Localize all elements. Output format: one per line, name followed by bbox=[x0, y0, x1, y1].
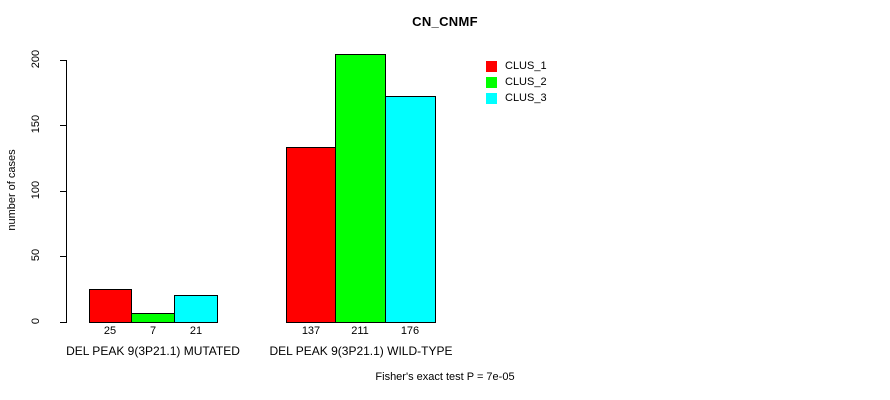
legend-swatch-clus-2 bbox=[486, 77, 497, 88]
bar-group-1-clus-3[interactable] bbox=[174, 295, 218, 323]
legend-swatch-clus-3 bbox=[486, 93, 497, 104]
legend-label-clus-1: CLUS_1 bbox=[505, 61, 547, 72]
x-axis-group-label-wild-type: DEL PEAK 9(3P21.1) WILD-TYPE bbox=[251, 344, 471, 358]
bar-group-2-clus-1[interactable] bbox=[286, 147, 336, 323]
bar-group-1-clus-2[interactable] bbox=[131, 313, 175, 323]
bar-group-1-clus-1[interactable] bbox=[89, 289, 132, 323]
legend-item-clus-3[interactable]: CLUS_3 bbox=[486, 90, 547, 106]
legend-label-clus-3: CLUS_3 bbox=[505, 93, 547, 104]
bar-value-group-1-clus-3: 21 bbox=[166, 325, 226, 337]
bar-group-2-clus-3[interactable] bbox=[385, 96, 436, 323]
legend-item-clus-1[interactable]: CLUS_1 bbox=[486, 58, 547, 74]
x-axis-group-label-mutated: DEL PEAK 9(3P21.1) MUTATED bbox=[43, 344, 263, 358]
bar-value-group-2-clus-3: 176 bbox=[380, 325, 440, 337]
fisher-test-annotation: Fisher's exact test P = 7e-05 bbox=[0, 371, 890, 383]
legend: CLUS_1 CLUS_2 CLUS_3 bbox=[486, 58, 547, 106]
bar-group-2-clus-2[interactable] bbox=[335, 54, 386, 323]
legend-label-clus-2: CLUS_2 bbox=[505, 77, 547, 88]
barplot-figure: CN_CNMF 0 50 100 150 200 number of cases… bbox=[0, 0, 890, 400]
legend-item-clus-2[interactable]: CLUS_2 bbox=[486, 74, 547, 90]
legend-swatch-clus-1 bbox=[486, 61, 497, 72]
plot-area: 25 7 21 137 211 176 DEL PEAK 9(3P21.1) M… bbox=[0, 0, 890, 400]
